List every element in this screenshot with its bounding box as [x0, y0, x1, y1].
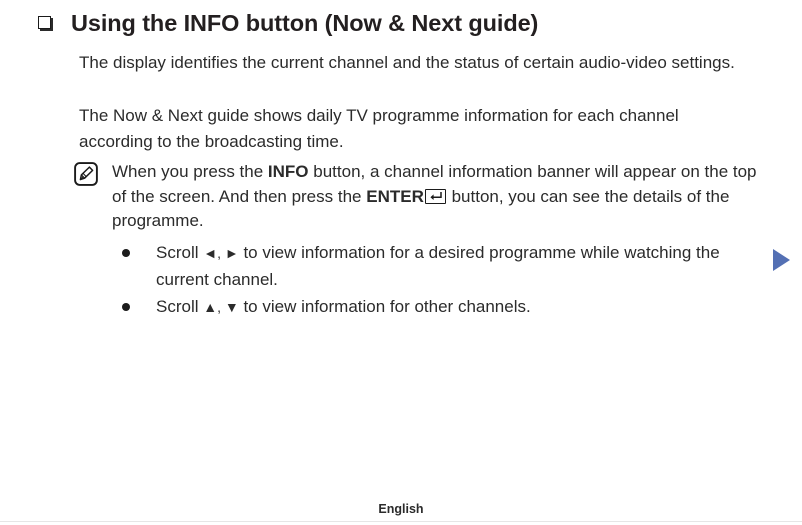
bullet-prefix: Scroll	[156, 243, 203, 262]
round-bullet-icon	[122, 303, 130, 311]
note-text: When you press the INFO button, a channe…	[112, 160, 760, 234]
footer-divider	[0, 521, 802, 522]
next-page-triangle-icon[interactable]	[773, 249, 790, 271]
scroll-up-down-arrows-icon: ▲, ▼	[203, 299, 239, 315]
page-title: Using the INFO button (Now & Next guide)	[71, 6, 538, 40]
note-bold-enter: ENTER	[366, 187, 424, 206]
list-item-text: Scroll ◄, ► to view information for a de…	[156, 240, 768, 292]
intro-paragraph-1: The display identifies the current chann…	[79, 50, 751, 76]
footer-language-label: English	[0, 502, 802, 516]
note-pencil-icon	[74, 162, 98, 186]
note-block: When you press the INFO button, a channe…	[74, 160, 764, 234]
list-item: Scroll ▲, ▼ to view information for othe…	[113, 294, 768, 321]
page-heading: Using the INFO button (Now & Next guide)	[38, 6, 762, 40]
bullet-list: Scroll ◄, ► to view information for a de…	[113, 240, 768, 323]
bullet-prefix: Scroll	[156, 297, 203, 316]
bullet-suffix: to view information for other channels.	[239, 297, 531, 316]
note-text-part-1: When you press the	[112, 162, 268, 181]
round-bullet-icon	[122, 249, 130, 257]
note-bold-info: INFO	[268, 162, 309, 181]
square-bullet-icon	[38, 16, 53, 31]
enter-return-key-icon	[425, 189, 446, 204]
bullet-suffix: to view information for a desired progra…	[156, 243, 720, 289]
list-item-text: Scroll ▲, ▼ to view information for othe…	[156, 294, 768, 321]
list-item: Scroll ◄, ► to view information for a de…	[113, 240, 768, 292]
intro-paragraph-2: The Now & Next guide shows daily TV prog…	[79, 103, 751, 155]
scroll-left-right-arrows-icon: ◄, ►	[203, 245, 239, 261]
manual-page: Using the INFO button (Now & Next guide)…	[0, 0, 802, 525]
